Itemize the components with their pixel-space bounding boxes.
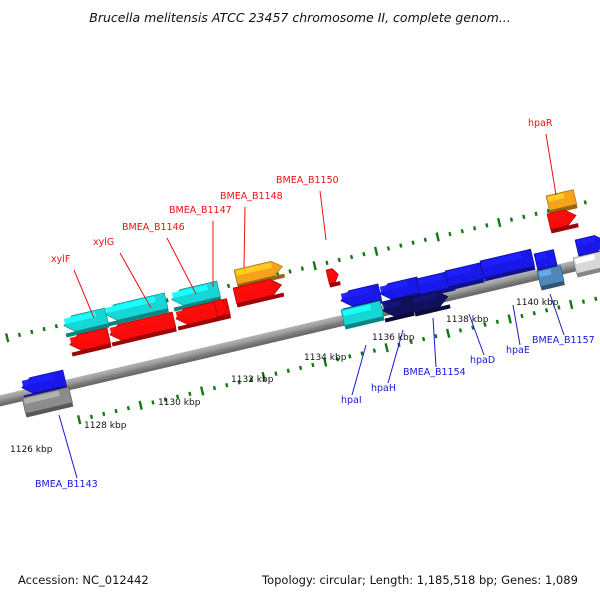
ruler-tick [42, 327, 45, 331]
ruler-tick [496, 320, 499, 324]
gene-label-top[interactable]: BMEA_B1147 [169, 205, 232, 216]
ruler-tick [138, 401, 142, 410]
gene-label-bottom[interactable]: BMEA_B1157 [532, 335, 595, 346]
ruler-tick [299, 366, 302, 370]
leader-line [59, 415, 77, 478]
ruler-tick [387, 246, 390, 250]
ruler-tick [213, 386, 216, 390]
page-title: Brucella melitensis ATCC 23457 chromosom… [89, 10, 510, 25]
ruler-tick [274, 371, 277, 375]
ruler-tick [497, 218, 501, 227]
ruler-tick-label: 1138 kbp [446, 315, 489, 325]
ruler-tick [435, 232, 439, 241]
leader-line [546, 134, 556, 195]
gene-label-top[interactable]: BMEA_B1150 [276, 175, 339, 186]
ruler-tick [55, 324, 58, 328]
leader-line [352, 345, 366, 395]
gene-label-top[interactable]: BMEA_B1146 [122, 222, 185, 233]
ruler-tick [325, 261, 328, 265]
accession-label: Accession: NC_012442 [18, 573, 149, 587]
ruler-tick [424, 238, 427, 242]
gene-feature[interactable] [341, 301, 385, 330]
gene-label-top[interactable]: xylG [93, 237, 114, 248]
ruler-tick [374, 247, 378, 256]
ruler-tick [510, 217, 513, 221]
gene-label-bottom[interactable]: hpaE [506, 345, 530, 356]
gene-label-bottom[interactable]: hpaH [371, 383, 396, 394]
gene-label-top[interactable]: BMEA_B1148 [220, 191, 283, 202]
ruler-tick [188, 392, 191, 396]
ruler-tick [584, 200, 587, 204]
leader-line [74, 270, 94, 318]
ruler-tick-label: 1126 kbp [10, 445, 53, 455]
ruler-tick-label: 1132 kbp [231, 375, 274, 385]
ruler-tick [534, 212, 537, 216]
ruler-tick [288, 269, 291, 273]
ruler-tick [520, 314, 523, 318]
ruler-tick [287, 369, 290, 373]
ruler-tick [312, 261, 316, 270]
gene-feature[interactable] [381, 296, 415, 322]
ruler-tick [582, 299, 585, 303]
ruler-tick [5, 333, 9, 342]
ruler-tick-label: 1128 kbp [84, 421, 127, 431]
leader-line [244, 207, 245, 268]
ruler-tick [18, 333, 21, 337]
ruler-tick [384, 343, 388, 352]
ruler-tick [30, 330, 33, 334]
ruler-tick [434, 334, 437, 338]
ruler-tick [102, 412, 105, 416]
ruler-tick [411, 240, 414, 244]
ruler-tick [448, 232, 451, 236]
gene-label-bottom[interactable]: hpaD [470, 355, 495, 366]
ruler-tick [127, 406, 130, 410]
ruler-tick [533, 311, 536, 315]
ruler-tick [227, 284, 230, 288]
gene-label-bottom[interactable]: BMEA_B1154 [403, 367, 466, 378]
ruler-tick [77, 415, 81, 424]
gene-features-layer[interactable] [20, 190, 600, 418]
genome-stats-label: Topology: circular; Length: 1,185,518 bp… [261, 573, 578, 587]
ruler-tick-label: 1140 kbp [516, 298, 559, 308]
ruler-tick [338, 258, 341, 262]
gene-feature[interactable] [573, 251, 600, 278]
ruler-tick [459, 328, 462, 332]
ruler-tick [200, 386, 204, 395]
ruler-tick [545, 308, 548, 312]
ruler-tick-label: 1134 kbp [304, 353, 347, 363]
genome-viewer-canvas: Brucella melitensis ATCC 23457 chromosom… [0, 0, 600, 600]
ruler-tick [446, 329, 450, 338]
ruler-tick [522, 215, 525, 219]
ruler-tick [225, 383, 228, 387]
ruler-tick [311, 363, 314, 367]
leader-line [167, 238, 196, 294]
gene-feature[interactable] [326, 267, 341, 287]
gene-label-bottom[interactable]: hpaI [341, 395, 362, 406]
gene-label-top[interactable]: hpaR [528, 118, 553, 129]
ruler-tick [594, 297, 597, 301]
leader-line [320, 191, 326, 240]
ruler-tick [507, 314, 511, 323]
ruler-tick [348, 354, 351, 358]
ruler-tick [399, 243, 402, 247]
ruler-tick [301, 266, 304, 270]
ruler-tick [461, 229, 464, 233]
ruler-tick [373, 348, 376, 352]
gene-label-bottom[interactable]: BMEA_B1143 [35, 479, 98, 490]
ruler-tick-label: 1130 kbp [158, 398, 201, 408]
ruler-tick [350, 255, 353, 259]
leader-line [433, 318, 436, 367]
leader-line [513, 305, 520, 345]
ruler-tick [422, 337, 425, 341]
ruler-tick [362, 252, 365, 256]
ruler-tick [90, 415, 93, 419]
genome-map-svg[interactable]: Brucella melitensis ATCC 23457 chromosom… [0, 0, 600, 600]
ruler-tick [473, 226, 476, 230]
ruler-tick [485, 223, 488, 227]
ruler-tick [151, 400, 154, 404]
ruler-tick [114, 409, 117, 413]
gene-body[interactable] [326, 267, 340, 283]
gene-label-top[interactable]: xylF [51, 254, 70, 265]
ruler-tick-label: 1136 kbp [372, 333, 415, 343]
ruler-tick [569, 300, 573, 309]
